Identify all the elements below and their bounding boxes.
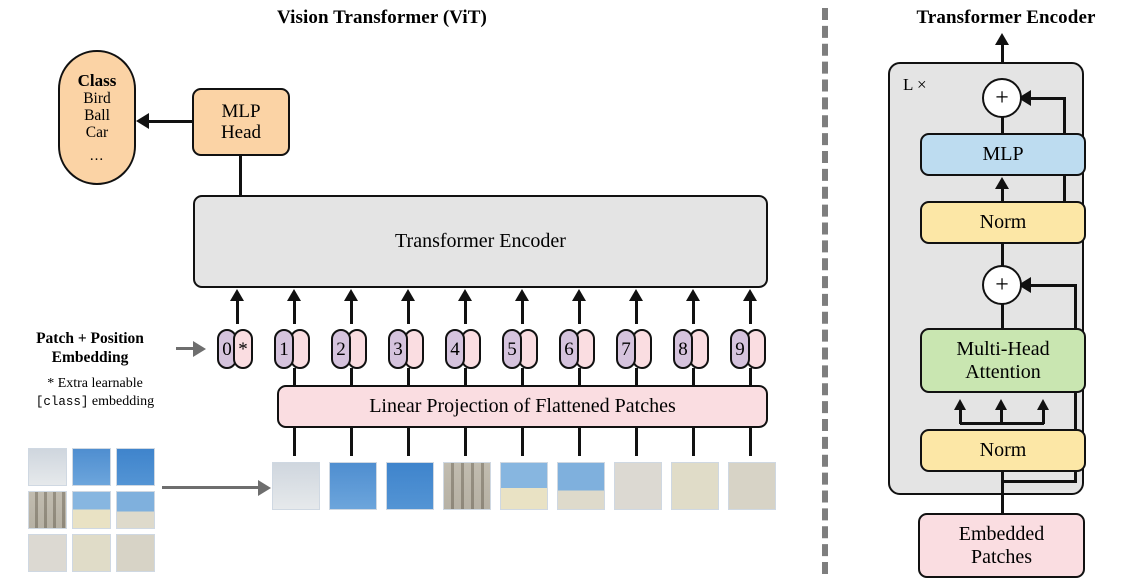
token-2: 2 — [331, 329, 369, 369]
source-grid-cell-9 — [116, 534, 155, 572]
residual-line-bottom-horizontal-top — [1030, 284, 1077, 287]
class-item-bird: Bird — [83, 90, 111, 107]
encoder-output-arrow-head — [995, 33, 1009, 45]
token-3-position-pill: 3 — [388, 329, 408, 369]
extra-learnable-note: * Extra learnable [class] embedding — [10, 375, 180, 410]
transformer-encoder-label: Transformer Encoder — [395, 230, 566, 252]
embedded-patches-block: Embedded Patches — [918, 513, 1085, 578]
line-mlp-to-add-top — [1001, 116, 1004, 134]
norm-top-label: Norm — [980, 211, 1027, 233]
token-4-position-pill: 4 — [445, 329, 465, 369]
token-0: 0 * — [217, 329, 255, 369]
arrow-grid-to-patches-head — [258, 480, 271, 496]
token-7: 7 — [616, 329, 654, 369]
source-grid-cell-4 — [28, 491, 67, 529]
line-encoder-to-mlphead — [239, 156, 242, 196]
residual-add-middle-glyph: + — [995, 273, 1009, 297]
image-patch-4 — [443, 462, 491, 510]
source-grid-cell-6 — [116, 491, 155, 529]
token-0-patch-pill: * — [233, 329, 253, 369]
token-6: 6 — [559, 329, 597, 369]
image-patch-8 — [671, 462, 719, 510]
mlp-block-label: MLP — [982, 143, 1023, 165]
token-8-position-pill: 8 — [673, 329, 693, 369]
extra-note-line2-tail: embedding — [88, 394, 154, 409]
image-patch-7 — [614, 462, 662, 510]
left-panel-title: Vision Transformer (ViT) — [232, 7, 532, 29]
token-8: 8 — [673, 329, 711, 369]
linear-projection-label: Linear Projection of Flattened Patches — [369, 395, 676, 417]
line-mha-to-add-mid — [1001, 303, 1004, 330]
norm-bottom-block: Norm — [920, 429, 1086, 472]
arrow-mlphead-to-class-head — [136, 113, 149, 129]
repeat-count-label: L × — [903, 75, 927, 95]
residual-line-bottom-horizontal-bottom — [1001, 480, 1077, 483]
transformer-encoder-box: Transformer Encoder — [193, 195, 768, 288]
multi-head-attention-block: Multi-Head Attention — [920, 328, 1086, 393]
residual-add-top-glyph: + — [995, 86, 1009, 110]
source-grid-cell-8 — [72, 534, 111, 572]
mlp-head-line2: Head — [221, 122, 261, 143]
token-5-position-pill: 5 — [502, 329, 522, 369]
source-grid-cell-7 — [28, 534, 67, 572]
arrow-grid-to-patches — [162, 486, 262, 489]
token-9: 9 — [730, 329, 768, 369]
patch-position-embedding-label: Patch + Position Embedding — [10, 330, 170, 367]
class-output-box: Class Bird Ball Car ... — [58, 50, 136, 185]
embedded-patches-line1: Embedded — [959, 523, 1045, 545]
class-heading: Class — [78, 71, 117, 90]
embedded-patches-line2: Patches — [971, 546, 1032, 568]
arrow-mlphead-to-class — [148, 120, 192, 123]
token-5: 5 — [502, 329, 540, 369]
token-9-position-pill: 9 — [730, 329, 750, 369]
image-patch-2 — [329, 462, 377, 510]
linear-projection-box: Linear Projection of Flattened Patches — [277, 385, 768, 428]
patch-position-line2: Embedding — [10, 349, 170, 368]
source-grid-cell-3 — [116, 448, 155, 486]
image-patch-5 — [500, 462, 548, 510]
residual-add-top: + — [982, 78, 1022, 118]
token-7-position-pill: 7 — [616, 329, 636, 369]
token-1: 1 — [274, 329, 312, 369]
line-normtop-to-mlp — [1001, 188, 1004, 201]
panel-divider — [822, 8, 828, 574]
source-image-grid — [28, 448, 156, 573]
arrow-label-to-tokens-head — [193, 341, 206, 357]
patch-position-line1: Patch + Position — [10, 330, 170, 349]
extra-note-line1: * Extra learnable — [10, 375, 180, 393]
token-4: 4 — [445, 329, 483, 369]
class-item-ball: Ball — [84, 107, 110, 124]
mha-line2: Attention — [965, 361, 1041, 383]
image-patch-9 — [728, 462, 776, 510]
norm-top-block: Norm — [920, 201, 1086, 244]
token-2-position-pill: 2 — [331, 329, 351, 369]
image-patch-3 — [386, 462, 434, 510]
mha-line1: Multi-Head — [956, 338, 1049, 360]
token-3: 3 — [388, 329, 426, 369]
source-grid-cell-5 — [72, 491, 111, 529]
source-grid-cell-1 — [28, 448, 67, 486]
extra-note-class-token: [class] — [36, 395, 89, 409]
right-panel-title: Transformer Encoder — [882, 7, 1130, 29]
mlp-block: MLP — [920, 133, 1086, 176]
mlp-head-line1: MLP — [221, 101, 260, 122]
token-1-position-pill: 1 — [274, 329, 294, 369]
residual-add-middle: + — [982, 265, 1022, 305]
mlp-head-box: MLP Head — [192, 88, 290, 156]
arrow-normtop-to-mlp-head — [995, 177, 1009, 189]
token-6-position-pill: 6 — [559, 329, 579, 369]
image-patch-1 — [272, 462, 320, 510]
class-ellipsis: ... — [90, 148, 104, 165]
residual-line-top-horizontal-top — [1030, 97, 1066, 100]
line-embedded-to-norm-bottom — [1001, 470, 1004, 515]
source-grid-cell-2 — [72, 448, 111, 486]
image-patch-6 — [557, 462, 605, 510]
norm-bottom-label: Norm — [980, 439, 1027, 461]
class-item-car: Car — [86, 124, 108, 141]
